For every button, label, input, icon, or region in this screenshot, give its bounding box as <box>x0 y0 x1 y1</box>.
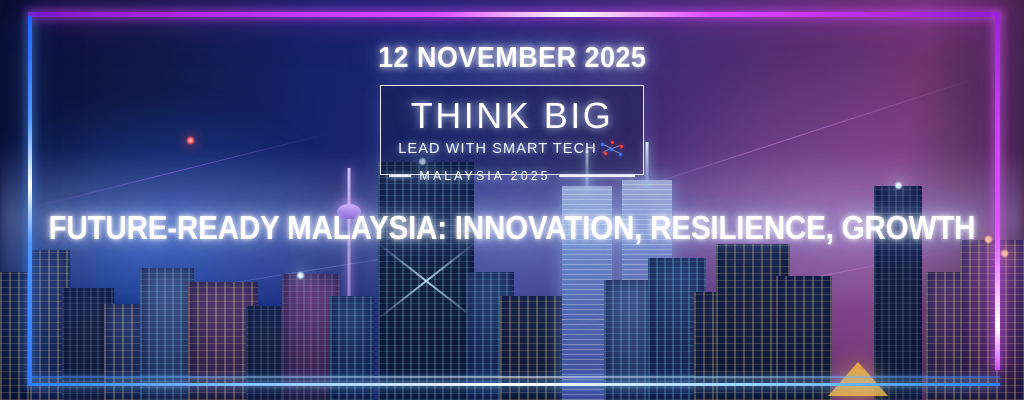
logo-rule-right <box>559 175 635 177</box>
logo-subtitle: LEAD WITH SMART TECH <box>398 141 596 157</box>
event-logo: THINK BIG LEAD WITH SMART TECH <box>380 85 644 175</box>
headline: FUTURE-READY MALAYSIA: INNOVATION, RESIL… <box>49 209 976 247</box>
logo-subtitle-row: LEAD WITH SMART TECH <box>398 140 625 158</box>
logo-footer-label: MALAYSIA 2025 <box>419 169 550 183</box>
logo-rule-left <box>389 175 411 177</box>
logo-footer: MALAYSIA 2025 <box>381 169 643 183</box>
banner-content: 12 NOVEMBER 2025 THINK BIG LEAD WITH SMA… <box>0 0 1024 400</box>
event-date: 12 NOVEMBER 2025 <box>378 42 646 75</box>
network-dots-icon <box>600 140 626 158</box>
event-banner: 12 NOVEMBER 2025 THINK BIG LEAD WITH SMA… <box>0 0 1024 400</box>
logo-title: THINK BIG <box>411 95 614 137</box>
